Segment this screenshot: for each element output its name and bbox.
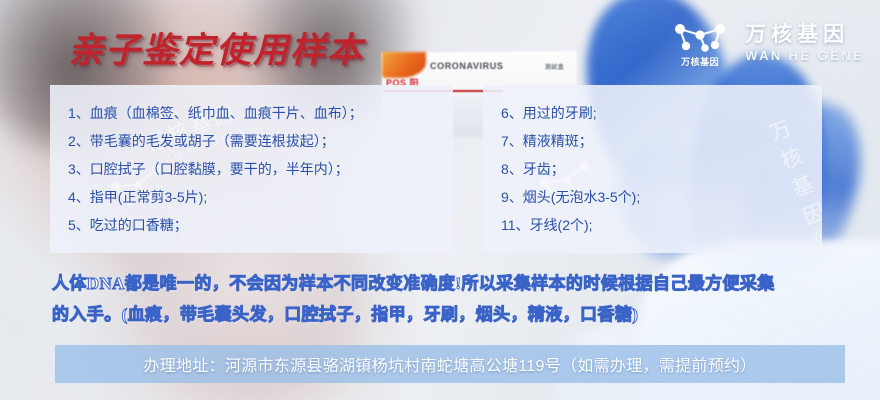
- list-item: 11、牙线(2个);: [501, 211, 806, 239]
- logo-mark-caption: 万核基因: [671, 55, 729, 68]
- note-paragraph: 人体DNA都是唯一的，不会因为样本不同改变准确度!所以采集样本的时候根据自己最方…: [52, 268, 842, 330]
- brand-logo: 万核基因 万核基因 WAN HE GENE: [671, 20, 864, 66]
- address-text: 办理地址：河源市东源县骆湖镇杨坑村南蛇塘高公塘119号（如需办理，需提前预约）: [143, 352, 756, 376]
- list-item: 2、带毛囊的毛发或胡子（需要连根拔起）；: [68, 127, 437, 155]
- note-line-2: 的入手。(血痕，带毛囊头发，口腔拭子，指甲，牙刷，烟头，精液，口香糖): [52, 299, 842, 330]
- list-item: 8、牙齿；: [501, 155, 806, 183]
- molecule-icon: 万核基因: [671, 20, 729, 66]
- list-item: 4、指甲(正常剪3-5片);: [68, 183, 437, 211]
- page-title: 亲子鉴定使用样本: [68, 22, 364, 73]
- note-line-1: 人体DNA都是唯一的，不会因为样本不同改变准确度!所以采集样本的时候根据自己最方…: [52, 268, 842, 299]
- brand-name-cn: 万核基因: [745, 24, 864, 46]
- promo-banner: CORONAVIRUS 測試盒 POS 阳 亲子鉴定使用样本: [0, 0, 880, 400]
- sample-panel-right: 万核基因 WAN HE GENE 6、用过的牙刷;: [483, 85, 822, 253]
- list-item: 7、精液精斑；: [501, 127, 806, 155]
- list-item: 5、吃过的口香糖；: [68, 211, 437, 239]
- sample-list-left: 1、血痕（血棉签、纸巾血、血痕干片、血布）； 2、带毛囊的毛发或胡子（需要连根拔…: [68, 99, 437, 239]
- address-bar: 办理地址：河源市东源县骆湖镇杨坑村南蛇塘高公塘119号（如需办理，需提前预约）: [55, 345, 845, 383]
- sample-panel-left: 万核基因 WAN HE GENE 1、血痕（血棉签、纸巾血: [50, 85, 453, 253]
- list-item: 6、用过的牙刷;: [501, 99, 806, 127]
- brand-name-en: WAN HE GENE: [745, 49, 864, 63]
- list-item: 3、口腔拭子（口腔黏膜，要干的，半年内）；: [68, 155, 437, 183]
- brand-name-block: 万核基因 WAN HE GENE: [745, 24, 864, 63]
- sample-list-right: 6、用过的牙刷; 7、精液精斑； 8、牙齿； 9、烟头(无泡水3-5个); 11…: [501, 99, 806, 239]
- panel-watermark-en: WAN HE GENE: [811, 219, 822, 253]
- list-item: 9、烟头(无泡水3-5个);: [501, 183, 806, 211]
- sample-panels: 万核基因 WAN HE GENE 1、血痕（血棉签、纸巾血: [50, 85, 822, 253]
- list-item: 1、血痕（血棉签、纸巾血、血痕干片、血布）；: [68, 99, 437, 127]
